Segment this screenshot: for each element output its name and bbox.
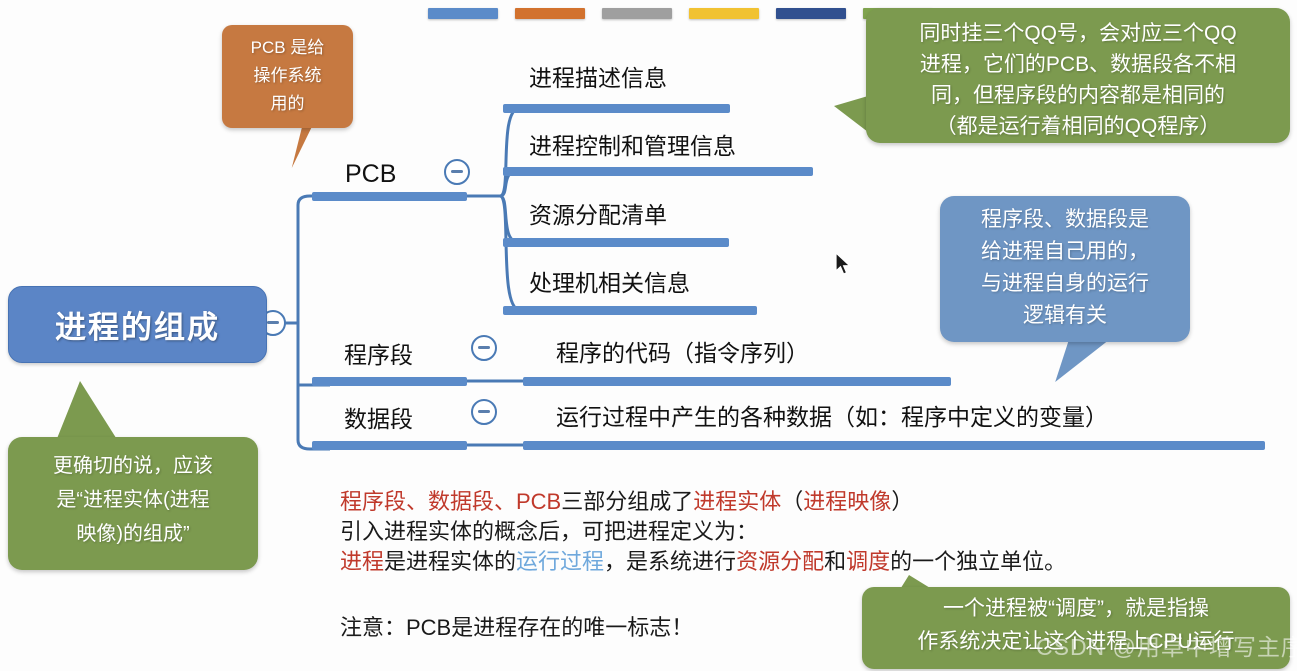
toggle-chengxuduan: [472, 336, 496, 360]
summary-line-1-seg-4: （: [781, 489, 803, 514]
summary-note: 注意：PCB是进程存在的唯一标志！: [340, 610, 693, 642]
callout-process-entity-line-2: 是“进程实体(进程: [16, 483, 250, 517]
pcb-child-label-4[interactable]: 处理机相关信息: [529, 264, 690, 298]
summary-line-1-seg-5: 进程映像: [803, 489, 891, 514]
summary-line-2: 引入进程实体的概念后，可把进程定义为：: [340, 517, 1260, 547]
pcb-child-label-1[interactable]: 进程描述信息: [529, 59, 667, 93]
callout-qq-example-line-2: 进程，它们的PCB、数据段各不相: [880, 49, 1276, 80]
summary-line-3-seg-6: 和: [824, 549, 846, 574]
summary-line-1: 程序段、数据段、PCB三部分组成了进程实体（进程映像）: [340, 487, 1260, 517]
mouse-cursor: [834, 252, 854, 278]
callout-pcb-purpose-line-3: 用的: [228, 90, 347, 118]
csdn-watermark: CSDN @用卓中增写主序: [1036, 628, 1297, 662]
callout-pcb-purpose: PCB 是给 操作系统 用的: [222, 25, 353, 128]
callout-qq-example-line-3: 同，但程序段的内容都是相同的: [880, 80, 1276, 111]
summary-line-3-seg-2: 是进程实体的: [384, 549, 516, 574]
summary-line-1-seg-3: 进程实体: [693, 489, 781, 514]
branch-label-pcb[interactable]: PCB: [345, 160, 396, 189]
summary-line-3-seg-8: 的一个独立单位。: [890, 549, 1066, 574]
callout-qq-example: 同时挂三个QQ号，会对应三个QQ 进程，它们的PCB、数据段各不相 同，但程序段…: [866, 8, 1290, 143]
summary-line-1-seg-2: 三部分组成了: [561, 489, 693, 514]
summary-line-3-seg-5: 资源分配: [736, 549, 824, 574]
root-node[interactable]: 进程的组成: [8, 286, 267, 363]
pcb-child-label-2[interactable]: 进程控制和管理信息: [529, 127, 736, 161]
shujuduan-child-label[interactable]: 运行过程中产生的各种数据（如：程序中定义的变量）: [556, 398, 1108, 432]
summary-line-1-seg-1: 程序段、数据段、PCB: [340, 489, 561, 514]
callout-segments-usage: 程序段、数据段是 给进程自己用的， 与进程自身的运行 逻辑有关: [940, 196, 1190, 342]
callout-segments-usage-line-3: 与进程自身的运行: [950, 268, 1180, 300]
summary-paragraph: 程序段、数据段、PCB三部分组成了进程实体（进程映像） 引入进程实体的概念后，可…: [340, 487, 1260, 577]
callout-process-entity: 更确切的说，应该 是“进程实体(进程 映像)的组成”: [8, 437, 258, 570]
branch-label-chengxuduan[interactable]: 程序段: [344, 336, 413, 370]
callout-segments-usage-line-4: 逻辑有关: [950, 300, 1180, 332]
callout-qq-example-line-1: 同时挂三个QQ号，会对应三个QQ: [880, 18, 1276, 49]
summary-line-3: 进程是进程实体的运行过程，是系统进行资源分配和调度的一个独立单位。: [340, 547, 1260, 577]
callout-tail-green-entity: [56, 381, 118, 441]
toggle-pcb: [445, 160, 469, 184]
pcb-child-label-3[interactable]: 资源分配清单: [529, 196, 667, 230]
callout-scheduling-line-1: 一个进程被“调度”，就是指操: [872, 592, 1280, 625]
summary-line-1-seg-6: ）: [891, 489, 913, 514]
callout-tail-green-qq: [834, 96, 868, 132]
callout-segments-usage-line-2: 给进程自己用的，: [950, 236, 1180, 268]
callout-pcb-purpose-line-2: 操作系统: [228, 62, 347, 90]
summary-line-3-seg-7: 调度: [846, 549, 890, 574]
root-node-label: 进程的组成: [55, 302, 220, 347]
summary-line-3-seg-3: 运行过程: [516, 549, 604, 574]
summary-line-3-seg-4: ，是系统进行: [604, 549, 736, 574]
branch-label-shujuduan[interactable]: 数据段: [344, 400, 413, 434]
toggle-shujuduan: [472, 400, 496, 424]
chengxuduan-child-label[interactable]: 程序的代码（指令序列）: [556, 334, 809, 368]
mindmap-canvas: 进程的组成 PCB 程序段 数据段 进程描述信息 进程控制和管理信息 资源分配清…: [0, 0, 1297, 671]
summary-line-3-seg-1: 进程: [340, 549, 384, 574]
callout-pcb-purpose-line-1: PCB 是给: [228, 34, 347, 62]
callout-process-entity-line-3: 映像)的组成”: [16, 517, 250, 551]
callout-qq-example-line-4: （都是运行着相同的QQ程序）: [880, 111, 1276, 142]
callout-process-entity-line-1: 更确切的说，应该: [16, 449, 250, 483]
callout-segments-usage-line-1: 程序段、数据段是: [950, 204, 1180, 236]
